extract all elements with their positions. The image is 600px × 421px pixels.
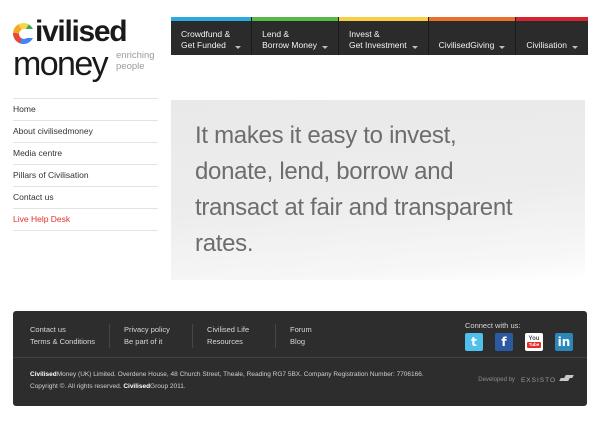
logo-line-2: money enriching people: [13, 48, 163, 80]
nav-item-3[interactable]: CivilisedGiving: [429, 17, 517, 55]
footer-column-1: Privacy policyBe part of it: [124, 324, 193, 348]
logo-tagline-1: enriching: [116, 50, 155, 61]
youtube-glyph-bottom: Tube: [527, 342, 541, 348]
legal-2-rest: Group 2011.: [150, 383, 186, 390]
sidebar-item-label: Contact us: [13, 192, 54, 202]
nav-accent-bar: [429, 17, 516, 21]
nav-item-label: Invest & Get Investment: [349, 21, 407, 50]
legal-1-bold: Civilised: [30, 371, 57, 378]
youtube-glyph-wrap: You Tube: [527, 336, 541, 348]
chevron-down-icon[interactable]: [499, 46, 505, 49]
sidebar-item-label: Media centre: [13, 148, 62, 158]
footer-link-civilised-life[interactable]: Civilised Life: [207, 324, 261, 336]
nav-item-2[interactable]: Invest & Get Investment: [339, 17, 429, 55]
logo-tagline: enriching people: [116, 51, 155, 72]
colored-c-icon: [13, 23, 34, 44]
footer-link-blog[interactable]: Blog: [290, 336, 344, 348]
footer-column-3: ForumBlog: [290, 324, 358, 348]
footer-top-row: Contact usTerms & ConditionsPrivacy poli…: [13, 311, 587, 358]
nav-item-0[interactable]: Crowdfund & Get Funded: [171, 17, 252, 55]
sidebar-item-media-centre[interactable]: Media centre: [13, 143, 158, 165]
sidebar-item-label: Pillars of Civilisation: [13, 170, 89, 180]
social-icon-row: t f You Tube in: [465, 333, 573, 351]
footer-column-2: Civilised LifeResources: [207, 324, 276, 348]
nav-item-label: Civilisation: [526, 32, 567, 51]
logo-word-money: money: [13, 45, 107, 83]
site-logo[interactable]: ivilised money enriching people: [13, 18, 163, 80]
nav-accent-bar: [339, 17, 428, 21]
nav-item-label: Lend & Borrow Money: [262, 21, 317, 50]
hero-panel: It makes it easy to invest, donate, lend…: [171, 100, 585, 280]
chevron-down-icon[interactable]: [412, 46, 418, 49]
main-navigation: Crowdfund & Get FundedLend & Borrow Mone…: [171, 17, 588, 55]
sidebar-item-label: Home: [13, 104, 36, 114]
hero-headline: It makes it easy to invest, donate, lend…: [195, 118, 535, 262]
footer-bottom-row: CivilisedMoney (UK) Limited. Overdene Ho…: [13, 358, 587, 393]
developed-by-brand: EXSISTO: [521, 377, 556, 384]
sidebar-item-about-civilisedmoney[interactable]: About civilisedmoney: [13, 121, 158, 143]
footer-link-terms-conditions[interactable]: Terms & Conditions: [30, 336, 95, 348]
youtube-icon[interactable]: You Tube: [525, 333, 543, 351]
site-footer: Contact usTerms & ConditionsPrivacy poli…: [13, 311, 587, 406]
developed-by[interactable]: Developed by EXSISTO: [478, 375, 573, 385]
connect-block: Connect with us: t f You Tube: [465, 321, 573, 351]
chevron-down-icon[interactable]: [235, 46, 241, 49]
sidebar-navigation: HomeAbout civilisedmoneyMedia centrePill…: [13, 98, 158, 231]
footer-link-be-part-of-it[interactable]: Be part of it: [124, 336, 178, 348]
footer-link-columns: Contact usTerms & ConditionsPrivacy poli…: [30, 324, 372, 348]
page-root: ivilised money enriching people Crowdfun…: [0, 0, 600, 421]
footer-column-0: Contact usTerms & Conditions: [30, 324, 110, 348]
footer-link-forum[interactable]: Forum: [290, 324, 344, 336]
sidebar-item-live-help-desk[interactable]: Live Help Desk: [13, 209, 158, 231]
legal-2-prefix: Copyright ©. All rights reserved.: [30, 383, 123, 390]
chevron-down-icon[interactable]: [572, 46, 578, 49]
facebook-glyph: f: [501, 336, 506, 348]
nav-accent-bar: [171, 17, 251, 21]
nav-item-label: CivilisedGiving: [439, 32, 495, 51]
nav-item-1[interactable]: Lend & Borrow Money: [252, 17, 339, 55]
logo-word-civilised: ivilised: [35, 15, 126, 48]
logo-tagline-2: people: [116, 61, 145, 72]
sidebar-item-contact-us[interactable]: Contact us: [13, 187, 158, 209]
chevron-down-icon[interactable]: [322, 46, 328, 49]
site-header: ivilised money enriching people Crowdfun…: [0, 0, 600, 92]
developed-by-label: Developed by: [478, 377, 515, 383]
legal-1-rest: Money (UK) Limited. Overdene House, 48 C…: [57, 371, 424, 378]
linkedin-glyph: in: [558, 336, 571, 348]
facebook-icon[interactable]: f: [495, 333, 513, 351]
twitter-glyph: t: [471, 336, 477, 348]
nav-accent-bar: [516, 17, 588, 21]
nav-item-4[interactable]: Civilisation: [516, 17, 588, 55]
footer-link-privacy-policy[interactable]: Privacy policy: [124, 324, 178, 336]
logo-line-1: ivilised: [13, 18, 163, 46]
linkedin-icon[interactable]: in: [555, 333, 573, 351]
legal-2-bold: Civilised: [123, 383, 150, 390]
footer-link-contact-us[interactable]: Contact us: [30, 324, 95, 336]
sidebar-item-label: Live Help Desk: [13, 214, 70, 224]
sidebar-item-pillars-of-civilisation[interactable]: Pillars of Civilisation: [13, 165, 158, 187]
sidebar-item-home[interactable]: Home: [13, 98, 158, 121]
exsisto-logo-icon: [560, 375, 573, 385]
nav-item-label: Crowdfund & Get Funded: [181, 21, 230, 50]
footer-link-resources[interactable]: Resources: [207, 336, 261, 348]
twitter-icon[interactable]: t: [465, 333, 483, 351]
sidebar-item-label: About civilisedmoney: [13, 126, 93, 136]
connect-label: Connect with us:: [465, 321, 573, 330]
nav-accent-bar: [252, 17, 338, 21]
